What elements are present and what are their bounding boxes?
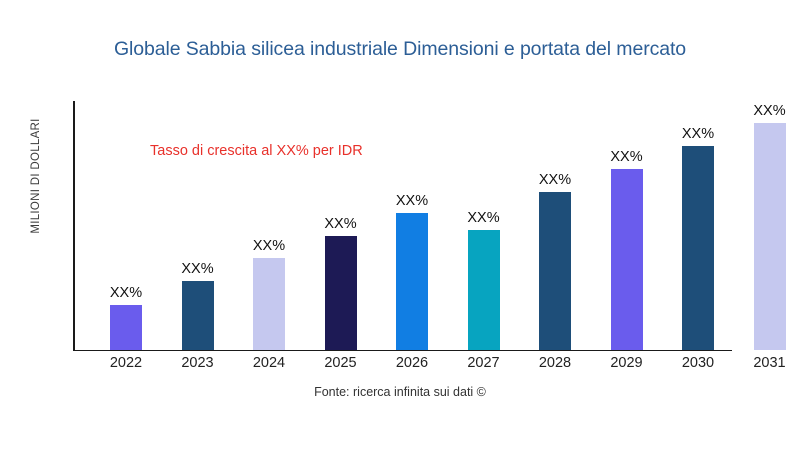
x-tick-label-2026: 2026 (382, 355, 442, 371)
bar-value-label-2026: XX% (396, 193, 428, 209)
bar-value-label-2022: XX% (110, 285, 142, 301)
x-tick-label-2024: 2024 (239, 355, 299, 371)
bar-2023[interactable]: XX% (182, 281, 214, 350)
bar-value-label-2023: XX% (181, 261, 213, 277)
bar-value-label-2028: XX% (539, 172, 571, 188)
x-tick-label-2028: 2028 (525, 355, 585, 371)
bar-2029[interactable]: XX% (611, 169, 643, 350)
plot-area: XX%XX%XX%XX%XX%XX%XX%XX%XX%XX% 202220232… (0, 0, 800, 450)
source-note: Fonte: ricerca infinita sui dati © (0, 385, 800, 399)
bar-2027[interactable]: XX% (468, 230, 500, 350)
x-tick-label-2030: 2030 (668, 355, 728, 371)
y-axis-line (73, 101, 75, 351)
x-tick-label-2031: 2031 (740, 355, 800, 371)
bar-value-label-2031: XX% (753, 103, 785, 119)
bar-value-label-2025: XX% (324, 216, 356, 232)
bar-2031[interactable]: XX% (754, 123, 786, 350)
x-tick-label-2025: 2025 (311, 355, 371, 371)
chart-screenshot: Globale Sabbia silicea industriale Dimen… (0, 0, 800, 450)
bar-value-label-2030: XX% (682, 126, 714, 142)
x-tick-label-2029: 2029 (597, 355, 657, 371)
x-tick-label-2023: 2023 (168, 355, 228, 371)
bar-2025[interactable]: XX% (325, 236, 357, 350)
bar-2030[interactable]: XX% (682, 146, 714, 350)
bar-value-label-2024: XX% (253, 238, 285, 254)
growth-rate-annotation: Tasso di crescita al XX% per IDR (150, 143, 363, 159)
bar-2024[interactable]: XX% (253, 258, 285, 350)
bar-value-label-2027: XX% (467, 210, 499, 226)
x-tick-label-2027: 2027 (454, 355, 514, 371)
bar-2026[interactable]: XX% (396, 213, 428, 350)
bar-2028[interactable]: XX% (539, 192, 571, 350)
bar-2022[interactable]: XX% (110, 305, 142, 350)
bar-value-label-2029: XX% (610, 149, 642, 165)
x-tick-label-2022: 2022 (96, 355, 156, 371)
